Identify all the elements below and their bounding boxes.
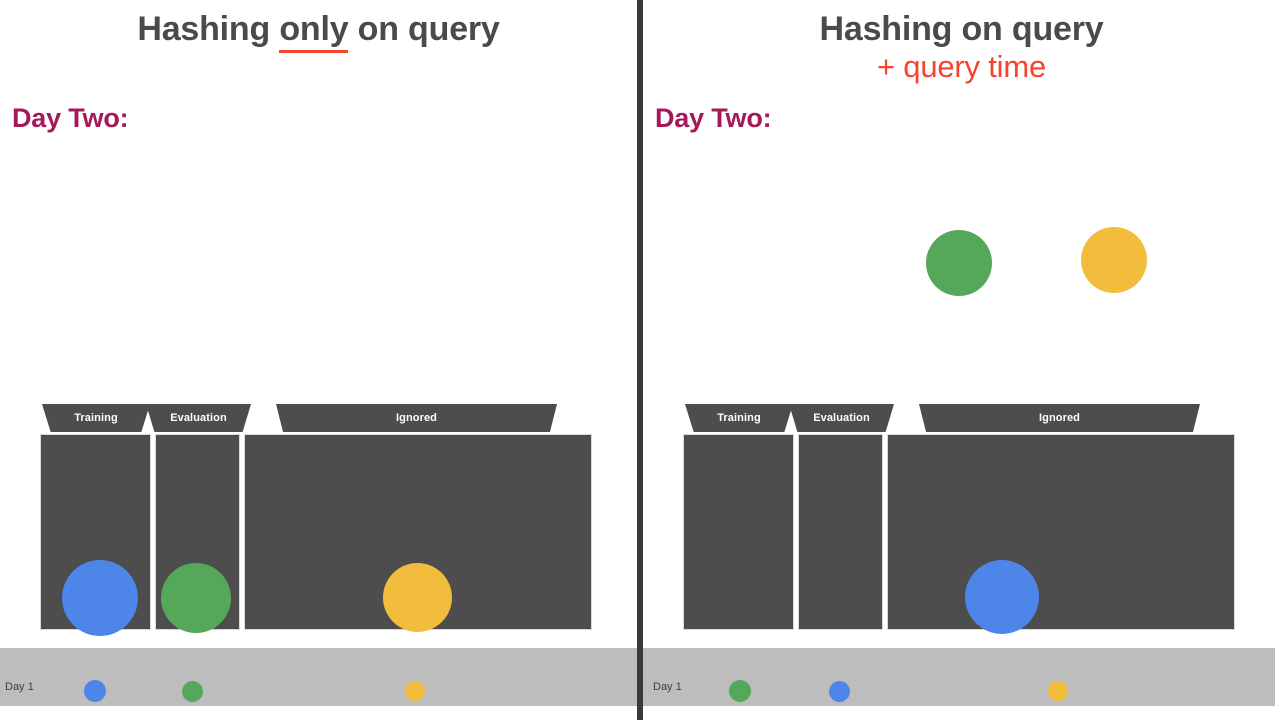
timeline-dot-yellow-right	[1048, 681, 1068, 701]
bin-box-evaluation-right	[798, 434, 883, 630]
bin-dot-blue-training-left	[62, 560, 138, 636]
bin-box-training-right	[683, 434, 794, 630]
title-subtext-query-time: + query time	[643, 50, 1280, 85]
day-two-label-left: Day Two:	[12, 103, 128, 134]
timeline-dot-green-left	[182, 681, 203, 702]
panel-right-title: Hashing on query + query time	[643, 10, 1280, 85]
slide-canvas: Hashing only on query Day Two: Training …	[0, 0, 1280, 720]
title-main-text: Hashing on query	[820, 10, 1104, 48]
bin-tab-label: Ignored	[1039, 412, 1080, 424]
day-two-label-right: Day Two:	[655, 103, 771, 134]
timeline-dot-green-right	[729, 680, 751, 702]
timeline-dot-blue-right	[829, 681, 850, 702]
timeline-day-label-right: Day 1	[653, 681, 682, 693]
title-emphasis-only: only	[279, 10, 348, 53]
bin-tab-evaluation-left: Evaluation	[146, 404, 251, 432]
bin-tab-evaluation-right: Evaluation	[789, 404, 894, 432]
timeline-day-label-left: Day 1	[5, 681, 34, 693]
panel-left: Hashing only on query Day Two: Training …	[0, 0, 637, 720]
bin-tab-label: Evaluation	[813, 412, 870, 424]
floating-dot-yellow-right	[1081, 227, 1147, 293]
bin-dot-yellow-ignored-left	[383, 563, 452, 632]
bin-tab-ignored-right: Ignored	[919, 404, 1200, 432]
bin-dot-blue-ignored-right	[965, 560, 1039, 634]
bin-tab-label: Training	[74, 412, 118, 424]
floating-dot-green-right	[926, 230, 992, 296]
bin-tab-training-left: Training	[42, 404, 150, 432]
bin-tab-training-right: Training	[685, 404, 793, 432]
bin-dot-green-evaluation-left	[161, 563, 231, 633]
panel-right: Hashing on query + query time Day Two: T…	[643, 0, 1280, 720]
timeline-dot-blue-left	[84, 680, 106, 702]
bin-tab-label: Evaluation	[170, 412, 227, 424]
title-tail-text: on query	[348, 10, 499, 48]
bin-tab-label: Ignored	[396, 412, 437, 424]
title-main-text: Hashing	[137, 10, 279, 48]
bin-tab-ignored-left: Ignored	[276, 404, 557, 432]
bin-box-ignored-right	[887, 434, 1235, 630]
timeline-dot-yellow-left	[405, 681, 425, 701]
bin-tab-label: Training	[717, 412, 761, 424]
panel-left-title: Hashing only on query	[0, 10, 637, 48]
